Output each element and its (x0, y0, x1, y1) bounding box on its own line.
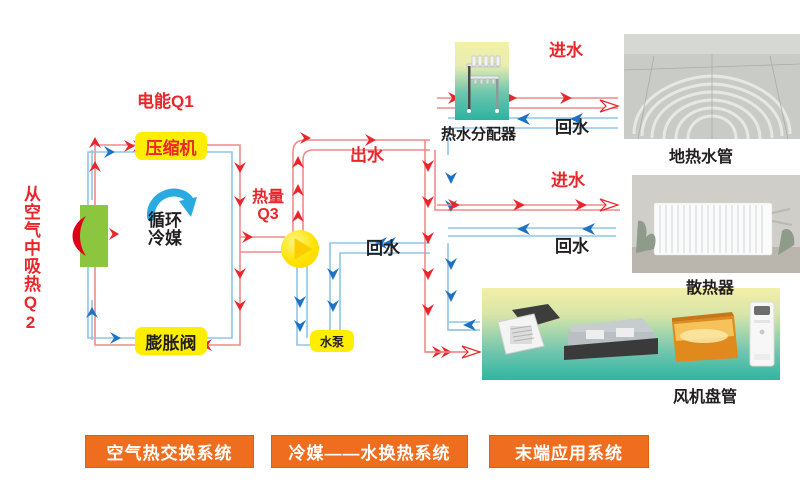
return-water-mid-label: 回水 (366, 240, 400, 258)
diagram-canvas: .pr{stroke:#f08a8a;stroke-width:1.6;fill… (0, 0, 810, 500)
expansion-valve-box[interactable]: 膨胀阀 (135, 327, 207, 355)
hot-water-distributor-image (455, 42, 509, 120)
heat-q3-label: 热量 Q3 (252, 190, 284, 224)
pump-triangle-icon (292, 238, 314, 260)
heat-q3-line2: Q3 (257, 206, 278, 223)
fan-coil-unit-image (482, 288, 780, 380)
refrigerant-line1: 循环 (148, 211, 182, 230)
radiator-image (632, 175, 800, 273)
refrigerant-line2: 冷媒 (148, 229, 182, 248)
system-tag-terminal-application[interactable]: 末端应用系统 (489, 435, 649, 468)
compressor-box[interactable]: 压缩机 (135, 132, 207, 160)
hot-water-distributor-caption: 热水分配器 (441, 123, 516, 144)
return-water-right-label: 回水 (555, 238, 589, 256)
air-heat-absorption-arrow-icon (58, 212, 88, 260)
inlet-water-mid-label: 进水 (551, 172, 585, 190)
floor-heating-pipe-caption: 地热水管 (669, 143, 733, 167)
water-pump-box[interactable]: 水泵 (310, 330, 354, 352)
fan-coil-unit-caption: 风机盘管 (673, 383, 737, 407)
outlet-water-label: 出水 (350, 147, 384, 165)
circulating-refrigerant-label: 循环 冷媒 (148, 212, 182, 248)
floor-heating-pipe-image (624, 34, 800, 139)
system-tag-refrigerant-water-heat-exchange[interactable]: 冷媒——水换热系统 (271, 435, 468, 468)
return-water-top-label: 回水 (555, 119, 589, 137)
heat-q3-line1: 热量 (252, 189, 284, 206)
inlet-water-top-label: 进水 (549, 42, 583, 60)
system-tag-air-heat-exchange[interactable]: 空气热交换系统 (85, 435, 254, 468)
radiator-caption: 散热器 (686, 274, 734, 298)
electric-energy-label: 电能Q1 (137, 93, 194, 111)
absorb-heat-from-air-label: 从空气中吸热Q2 (22, 185, 39, 333)
